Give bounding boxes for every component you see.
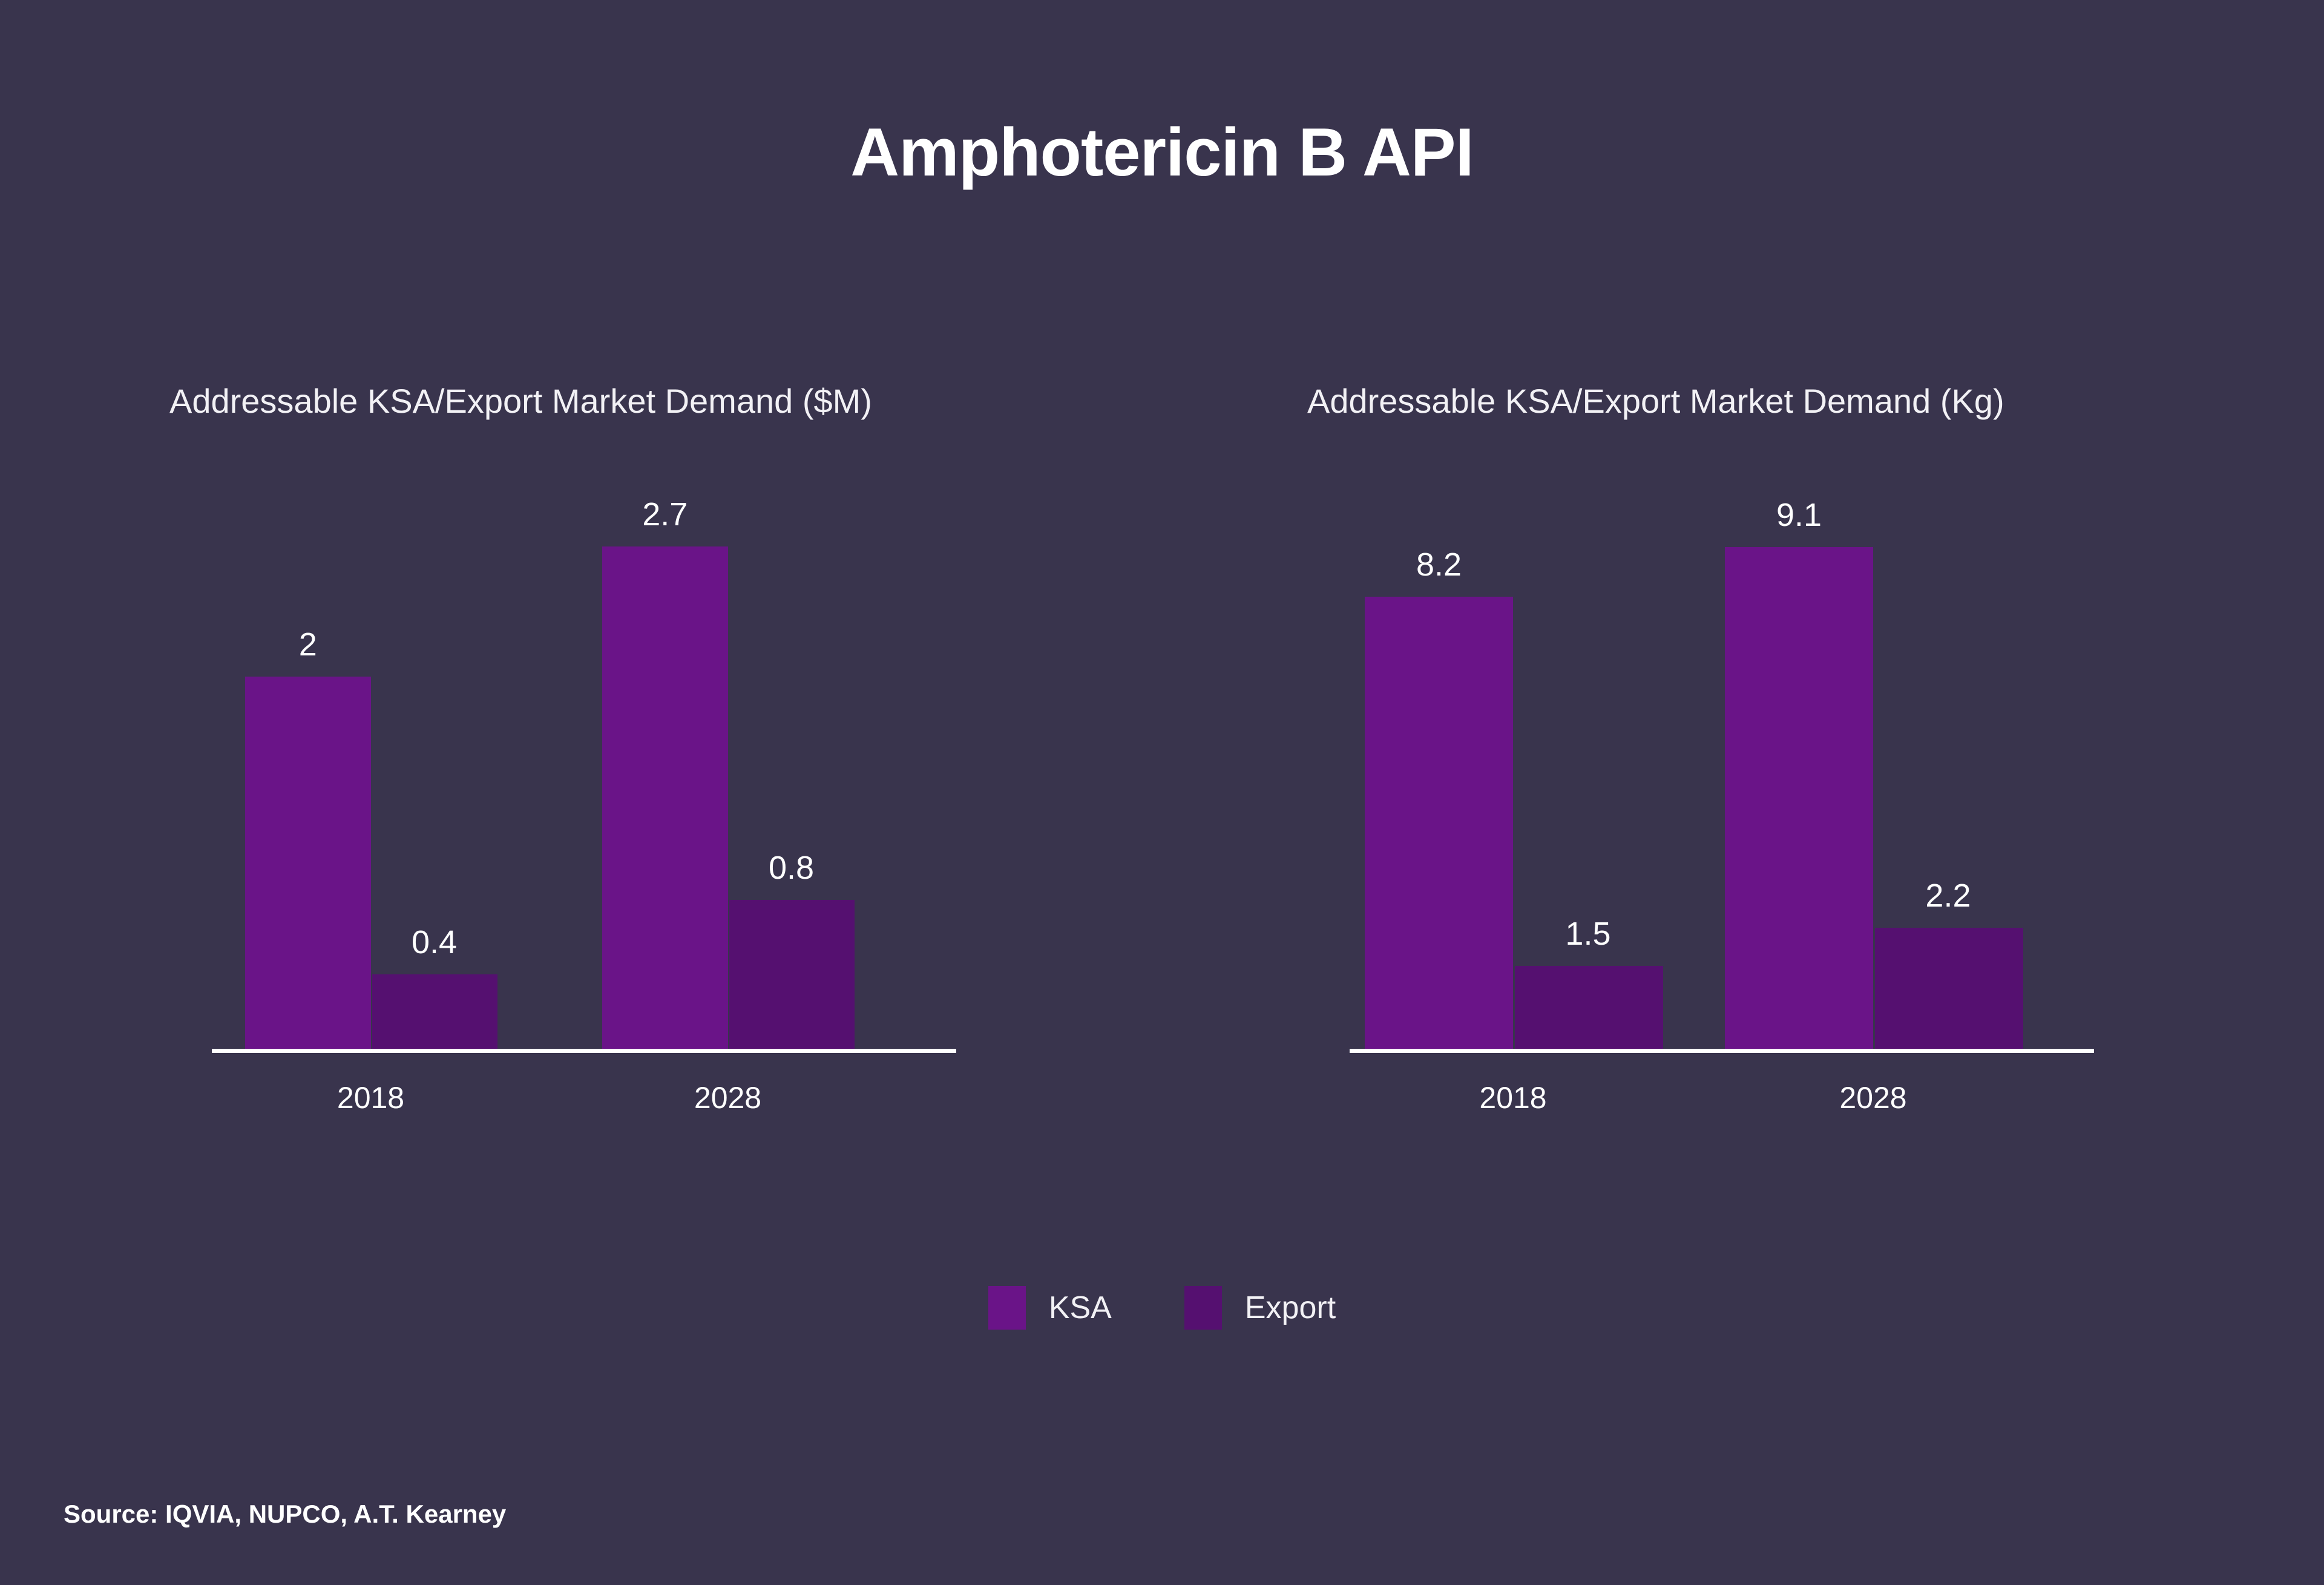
plot-area-value: 2 0.4 2.7 0.8 2018 2028 [212, 448, 956, 1053]
bar-export-2018[interactable] [1515, 966, 1663, 1049]
bar-group-2028: 2.7 0.8 [602, 448, 853, 1049]
bar-value-export-2028: 0.8 [769, 849, 814, 887]
legend-label-export: Export [1245, 1290, 1336, 1326]
chart-panel-volume: Addressable KSA/Export Market Demand (Kg… [1247, 0, 2215, 1585]
bar-group-2018: 2 0.4 [245, 448, 496, 1049]
bar-export-2018[interactable] [372, 974, 498, 1049]
source-note: Source: IQVIA, NUPCO, A.T. Kearney [64, 1500, 506, 1529]
bar-export-2028[interactable] [1875, 928, 2023, 1049]
slide-canvas: Amphotericin B API Addressable KSA/Expor… [0, 0, 2324, 1585]
bar-value-ksa-2018: 2 [299, 626, 317, 663]
bar-group-2028: 9.1 2.2 [1725, 448, 2021, 1049]
chart-title-volume: Addressable KSA/Export Market Demand (Kg… [1307, 381, 2004, 421]
x-axis-line [1350, 1049, 2094, 1053]
bar-ksa-2018[interactable] [1365, 597, 1513, 1049]
bar-wrap: 2.7 0.8 [602, 448, 853, 1049]
x-tick-2028: 2028 [1839, 1080, 1906, 1115]
chart-title-value: Addressable KSA/Export Market Demand ($M… [169, 381, 872, 421]
bar-value-ksa-2028: 9.1 [1776, 496, 1822, 534]
bar-wrap: 9.1 2.2 [1725, 448, 2021, 1049]
x-tick-2018: 2018 [1479, 1080, 1546, 1115]
legend-item-export[interactable]: Export [1184, 1286, 1336, 1330]
bar-value-ksa-2018: 8.2 [1416, 546, 1462, 583]
bar-group-2018: 8.2 1.5 [1365, 448, 1661, 1049]
x-tick-2028: 2028 [694, 1080, 761, 1115]
plot-area-volume: 8.2 1.5 9.1 2.2 2018 2028 [1350, 448, 2094, 1053]
bar-ksa-2028[interactable] [1725, 547, 1873, 1049]
x-tick-2018: 2018 [337, 1080, 404, 1115]
bar-value-export-2018: 1.5 [1565, 915, 1610, 953]
chart-legend: KSA Export [0, 1286, 2324, 1330]
bar-wrap: 2 0.4 [245, 448, 496, 1049]
bar-wrap: 8.2 1.5 [1365, 448, 1661, 1049]
x-axis-line [212, 1049, 956, 1053]
bar-ksa-2018[interactable] [245, 677, 371, 1049]
legend-swatch-export-icon [1184, 1286, 1222, 1330]
bar-export-2028[interactable] [729, 900, 855, 1049]
chart-panel-value: Addressable KSA/Export Market Demand ($M… [109, 0, 1077, 1585]
legend-label-ksa: KSA [1049, 1290, 1112, 1326]
legend-swatch-ksa-icon [988, 1286, 1026, 1330]
bar-ksa-2028[interactable] [602, 546, 728, 1049]
bar-value-export-2028: 2.2 [1925, 877, 1971, 914]
legend-item-ksa[interactable]: KSA [988, 1286, 1112, 1330]
bar-value-ksa-2028: 2.7 [642, 496, 688, 533]
bar-value-export-2018: 0.4 [412, 924, 457, 961]
